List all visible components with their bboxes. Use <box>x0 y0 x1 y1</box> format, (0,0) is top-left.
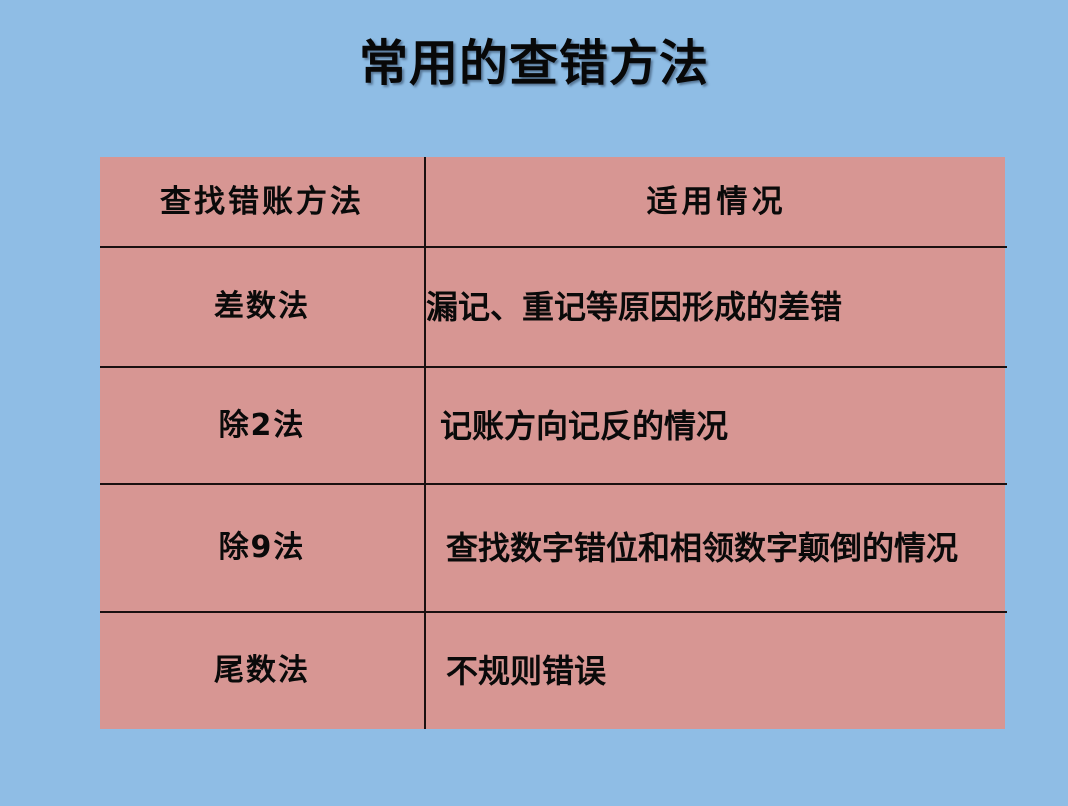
cell-method-2: 除2法 <box>100 367 425 484</box>
column-header-method: 查找错账方法 <box>100 157 425 247</box>
page-title: 常用的查错方法 <box>0 36 1068 92</box>
cell-case-4: 不规则错误 <box>425 612 1007 729</box>
cell-method-1: 差数法 <box>100 247 425 367</box>
cell-case-3: 查找数字错位和相领数字颠倒的情况 <box>425 484 1007 612</box>
error-finding-methods-table: 查找错账方法 适用情况 差数法 漏记、重记等原因形成的差错 除2法 记账方向记反… <box>100 157 1005 729</box>
slide-canvas: 常用的查错方法 查找错账方法 适用情况 差数法 漏记、重记等原因形成的差错 除2… <box>0 0 1068 806</box>
cell-method-3: 除9法 <box>100 484 425 612</box>
table-header-row: 查找错账方法 适用情况 <box>100 157 1007 247</box>
cell-method-4: 尾数法 <box>100 612 425 729</box>
table-row: 除9法 查找数字错位和相领数字颠倒的情况 <box>100 484 1007 612</box>
column-header-case: 适用情况 <box>425 157 1007 247</box>
table-row: 除2法 记账方向记反的情况 <box>100 367 1007 484</box>
cell-case-2: 记账方向记反的情况 <box>425 367 1007 484</box>
table-row: 差数法 漏记、重记等原因形成的差错 <box>100 247 1007 367</box>
table-row: 尾数法 不规则错误 <box>100 612 1007 729</box>
cell-case-1: 漏记、重记等原因形成的差错 <box>425 247 1007 367</box>
table: 查找错账方法 适用情况 差数法 漏记、重记等原因形成的差错 除2法 记账方向记反… <box>100 157 1007 729</box>
